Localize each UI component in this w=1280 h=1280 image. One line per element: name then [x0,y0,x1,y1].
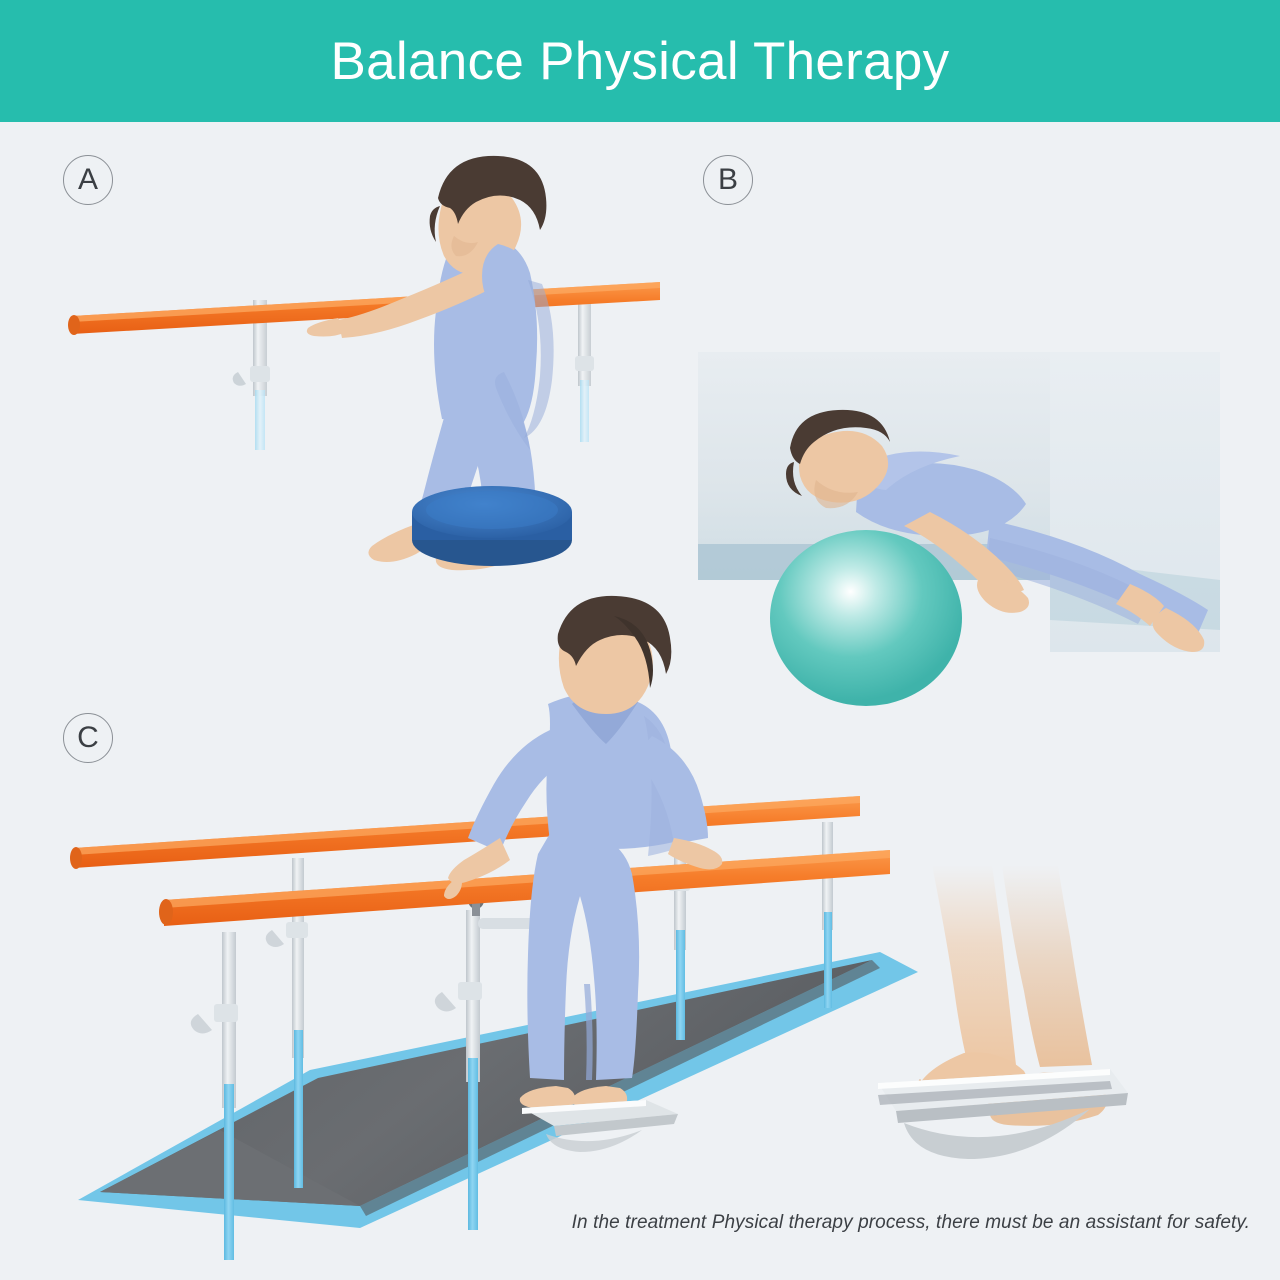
panel-label-b: B [703,155,753,205]
page-title: Balance Physical Therapy [0,0,1280,122]
illustration-page: Balance Physical Therapy [0,0,1280,1280]
footer-caption: In the treatment Physical therapy proces… [0,1212,1250,1234]
feet-detail-inset [860,855,1170,1165]
panel-label-a: A [63,155,113,205]
header-bar: Balance Physical Therapy [0,0,1280,122]
balance-cushion [412,486,572,566]
legs-detail [932,865,1092,1067]
walkway-mat [78,952,918,1228]
panel-c-artwork [60,600,940,1260]
panel-a-artwork [60,140,700,580]
panel-label-c: C [63,713,113,763]
bar-post-right [575,290,594,442]
